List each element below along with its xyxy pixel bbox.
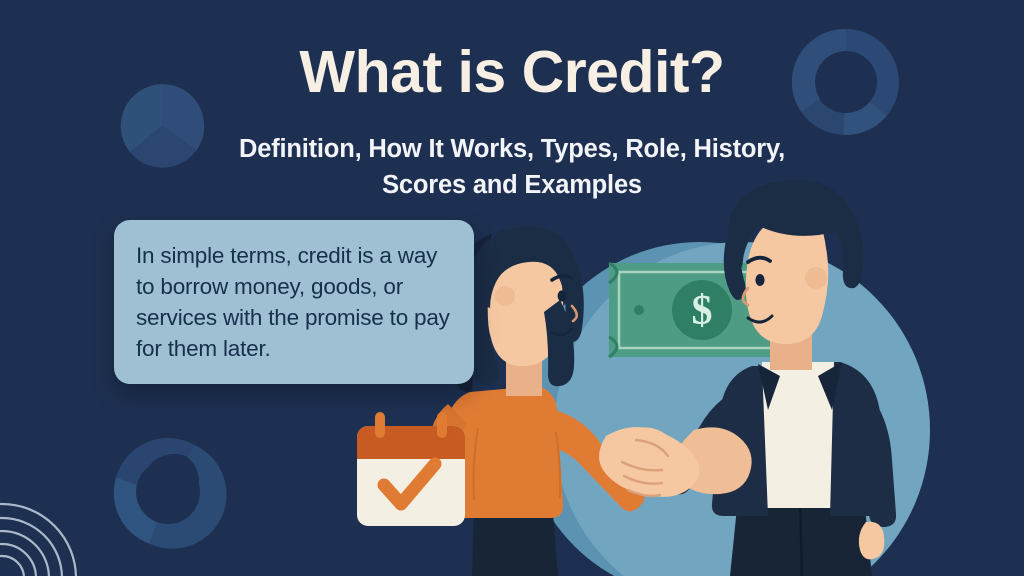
definition-callout: In simple terms, credit is a way to borr… <box>114 220 474 384</box>
poster-canvas: $ <box>0 0 1024 576</box>
dollar-sign: $ <box>692 288 713 334</box>
page-title: What is Credit? <box>0 42 1024 104</box>
calendar-icon <box>357 412 465 526</box>
page-subtitle: Definition, How It Works, Types, Role, H… <box>202 131 822 203</box>
